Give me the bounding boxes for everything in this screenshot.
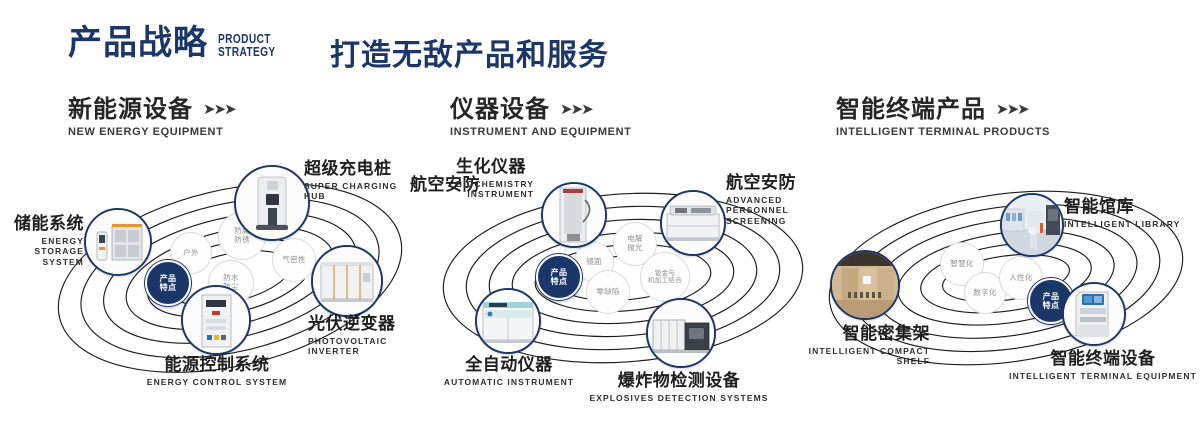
label-intelligent-compact-shelf: 智能密集架 INTELLIGENT COMPACT SHELF [750,325,930,367]
pv-inverter-cabinet-icon [313,247,381,315]
core-bubble-product-features: 产品特点 [536,254,582,300]
section-title-intelligent-cn: 智能终端产品 ➤➤➤ [836,96,1050,122]
node-biochemistry-instrument[interactable] [541,182,607,248]
chevron-right-icon: ➤➤➤ [203,101,235,118]
chevron-right-icon: ➤➤➤ [996,101,1028,118]
poster-header: 产品战略 PRODUCT STRATEGY [68,26,292,60]
label-cn: 能源控制系统 [102,356,332,375]
label-en: INTELLIGENT LIBRARY [1064,219,1180,230]
label-explosives-detection-systems: 爆炸物检测设备 EXPLOSIVES DETECTION SYSTEMS [576,372,782,403]
library-interior-icon [1002,195,1062,255]
label-cn: 爆炸物检测设备 [576,372,782,391]
feature-bubble-label: 人性化 [1009,274,1032,283]
feature-bubble-label: 钣金与 机加工结合 [648,270,682,285]
label-intelligent-library: 智能馆库 INTELLIGENT LIBRARY [1064,198,1180,229]
section-title-new-energy-text: 新能源设备 [68,96,193,122]
label-automatic-instrument: 全自动仪器 AUTOMATIC INSTRUMENT [416,356,602,387]
label-en: ENERGY STORAGE SYSTEM [0,236,84,268]
energy-storage-cabinet-icon [86,210,150,274]
feature-bubble-label: 数字化 [973,289,996,298]
control-cabinet-icon [183,287,249,353]
label-super-charging-hub: 超级充电桩 SUPER CHARGING HUB [304,160,420,202]
node-energy-storage-system[interactable] [84,208,152,276]
self-service-kiosk-icon [1064,284,1124,344]
feature-bubble-label: 户外 [183,249,199,258]
label-en: ENERGY CONTROL SYSTEM [102,377,332,388]
page-title: 产品战略 [68,26,208,60]
section-title-instrument-en: INSTRUMENT AND EQUIPMENT [450,126,631,138]
core-bubble-label: 产品特点 [551,268,568,286]
node-intelligent-library[interactable] [1000,193,1064,257]
node-photovoltaic-inverter[interactable] [311,245,383,317]
node-advanced-personnel-screening[interactable] [660,190,726,256]
label-cn: 光伏逆变器 [308,315,420,334]
node-intelligent-compact-shelf[interactable] [830,250,900,320]
node-intelligent-terminal-equipment[interactable] [1062,282,1126,346]
section-title-intelligent-en: INTELLIGENT TERMINAL PRODUCTS [836,126,1050,138]
automatic-analyzer-icon [477,290,539,352]
page-title-english: PRODUCT STRATEGY [218,32,276,58]
label-biochemistry-instrument: 生化仪器 BIOCHEMISTRY INSTRUMENT [456,158,534,200]
poster-canvas: 产品战略 PRODUCT STRATEGY 打造无敌产品和服务 新能源设备 ➤➤… [0,0,1200,422]
feature-bubble-label: 镜面 [586,258,602,267]
label-energy-storage-system: 储能系统 ENERGY STORAGE SYSTEM [0,215,84,268]
screening-machine-icon [662,192,724,254]
feature-bubble: 钣金与 机加工结合 [640,252,690,302]
node-super-charging-hub[interactable] [234,165,310,241]
label-photovoltaic-inverter: 光伏逆变器 PHOTOVOLTAIC INVERTER [308,315,420,357]
label-en: BIOCHEMISTRY INSTRUMENT [456,179,534,200]
chevron-right-icon: ➤➤➤ [560,101,592,118]
label-en: EXPLOSIVES DETECTION SYSTEMS [576,393,782,404]
label-cn: 航空安防 [726,174,818,193]
label-en: INTELLIGENT TERMINAL EQUIPMENT [1008,371,1198,382]
label-cn: 储能系统 [0,215,84,234]
label-en: INTELLIGENT COMPACT SHELF [750,346,930,367]
page-slogan: 打造无敌产品和服务 [330,30,609,74]
section-title-new-energy-en: NEW ENERGY EQUIPMENT [68,126,235,138]
label-energy-control-system: 能源控制系统 ENERGY CONTROL SYSTEM [102,356,332,387]
feature-bubble-label: 气密性 [282,256,305,265]
label-advanced-personnel-screening: 航空安防 ADVANCED PERSONNEL SCREENING [726,174,818,227]
core-bubble-label: 产品特点 [160,274,177,292]
label-cn: 智能密集架 [750,325,930,344]
feature-bubble-label: 智慧化 [950,260,973,269]
core-bubble-label: 产品特点 [1043,292,1060,310]
node-explosives-detection-systems[interactable] [646,298,716,368]
section-title-new-energy-cn: 新能源设备 ➤➤➤ [68,96,235,122]
label-en: AUTOMATIC INSTRUMENT [416,377,602,388]
cluster-intelligent-terminal: 智慧化 数字化 人性化 产品特点 [812,160,1200,390]
section-title-intelligent-text: 智能终端产品 [836,96,986,122]
feature-bubble: 零缺陷 [586,270,630,314]
feature-bubble-label: 电解 抛光 [627,235,643,252]
label-en: PHOTOVOLTAIC INVERTER [308,336,420,357]
cluster-new-energy: 户外 防腐 防锈 气密性 防水 防尘 产品特点 [40,160,420,390]
section-title-intelligent: 智能终端产品 ➤➤➤ INTELLIGENT TERMINAL PRODUCTS [836,96,1050,138]
label-intelligent-terminal-equipment: 智能终端设备 INTELLIGENT TERMINAL EQUIPMENT [1008,350,1198,381]
section-title-instrument-text: 仪器设备 [450,96,550,122]
label-en: ADVANCED PERSONNEL SCREENING [726,195,818,227]
section-title-new-energy: 新能源设备 ➤➤➤ NEW ENERGY EQUIPMENT [68,96,235,138]
node-automatic-instrument[interactable] [475,288,541,354]
label-cn: 生化仪器 [456,158,534,177]
feature-bubble-label: 零缺陷 [596,288,619,297]
label-en: SUPER CHARGING HUB [304,181,420,202]
explosives-detector-icon [648,300,714,366]
label-cn: 智能馆库 [1064,198,1180,217]
biochemistry-scanner-icon [543,184,605,246]
label-cn: 智能终端设备 [1008,350,1198,369]
page-title-english-line2: STRATEGY [218,45,276,58]
section-title-instrument-cn: 仪器设备 ➤➤➤ [450,96,631,122]
compact-shelf-icon [832,252,898,318]
section-title-instrument: 仪器设备 ➤➤➤ INSTRUMENT AND EQUIPMENT [450,96,631,138]
feature-bubble: 气密性 [272,238,316,282]
charging-pile-icon [236,167,308,239]
label-cn: 超级充电桩 [304,160,420,179]
label-cn: 全自动仪器 [416,356,602,375]
node-energy-control-system[interactable] [181,285,251,355]
